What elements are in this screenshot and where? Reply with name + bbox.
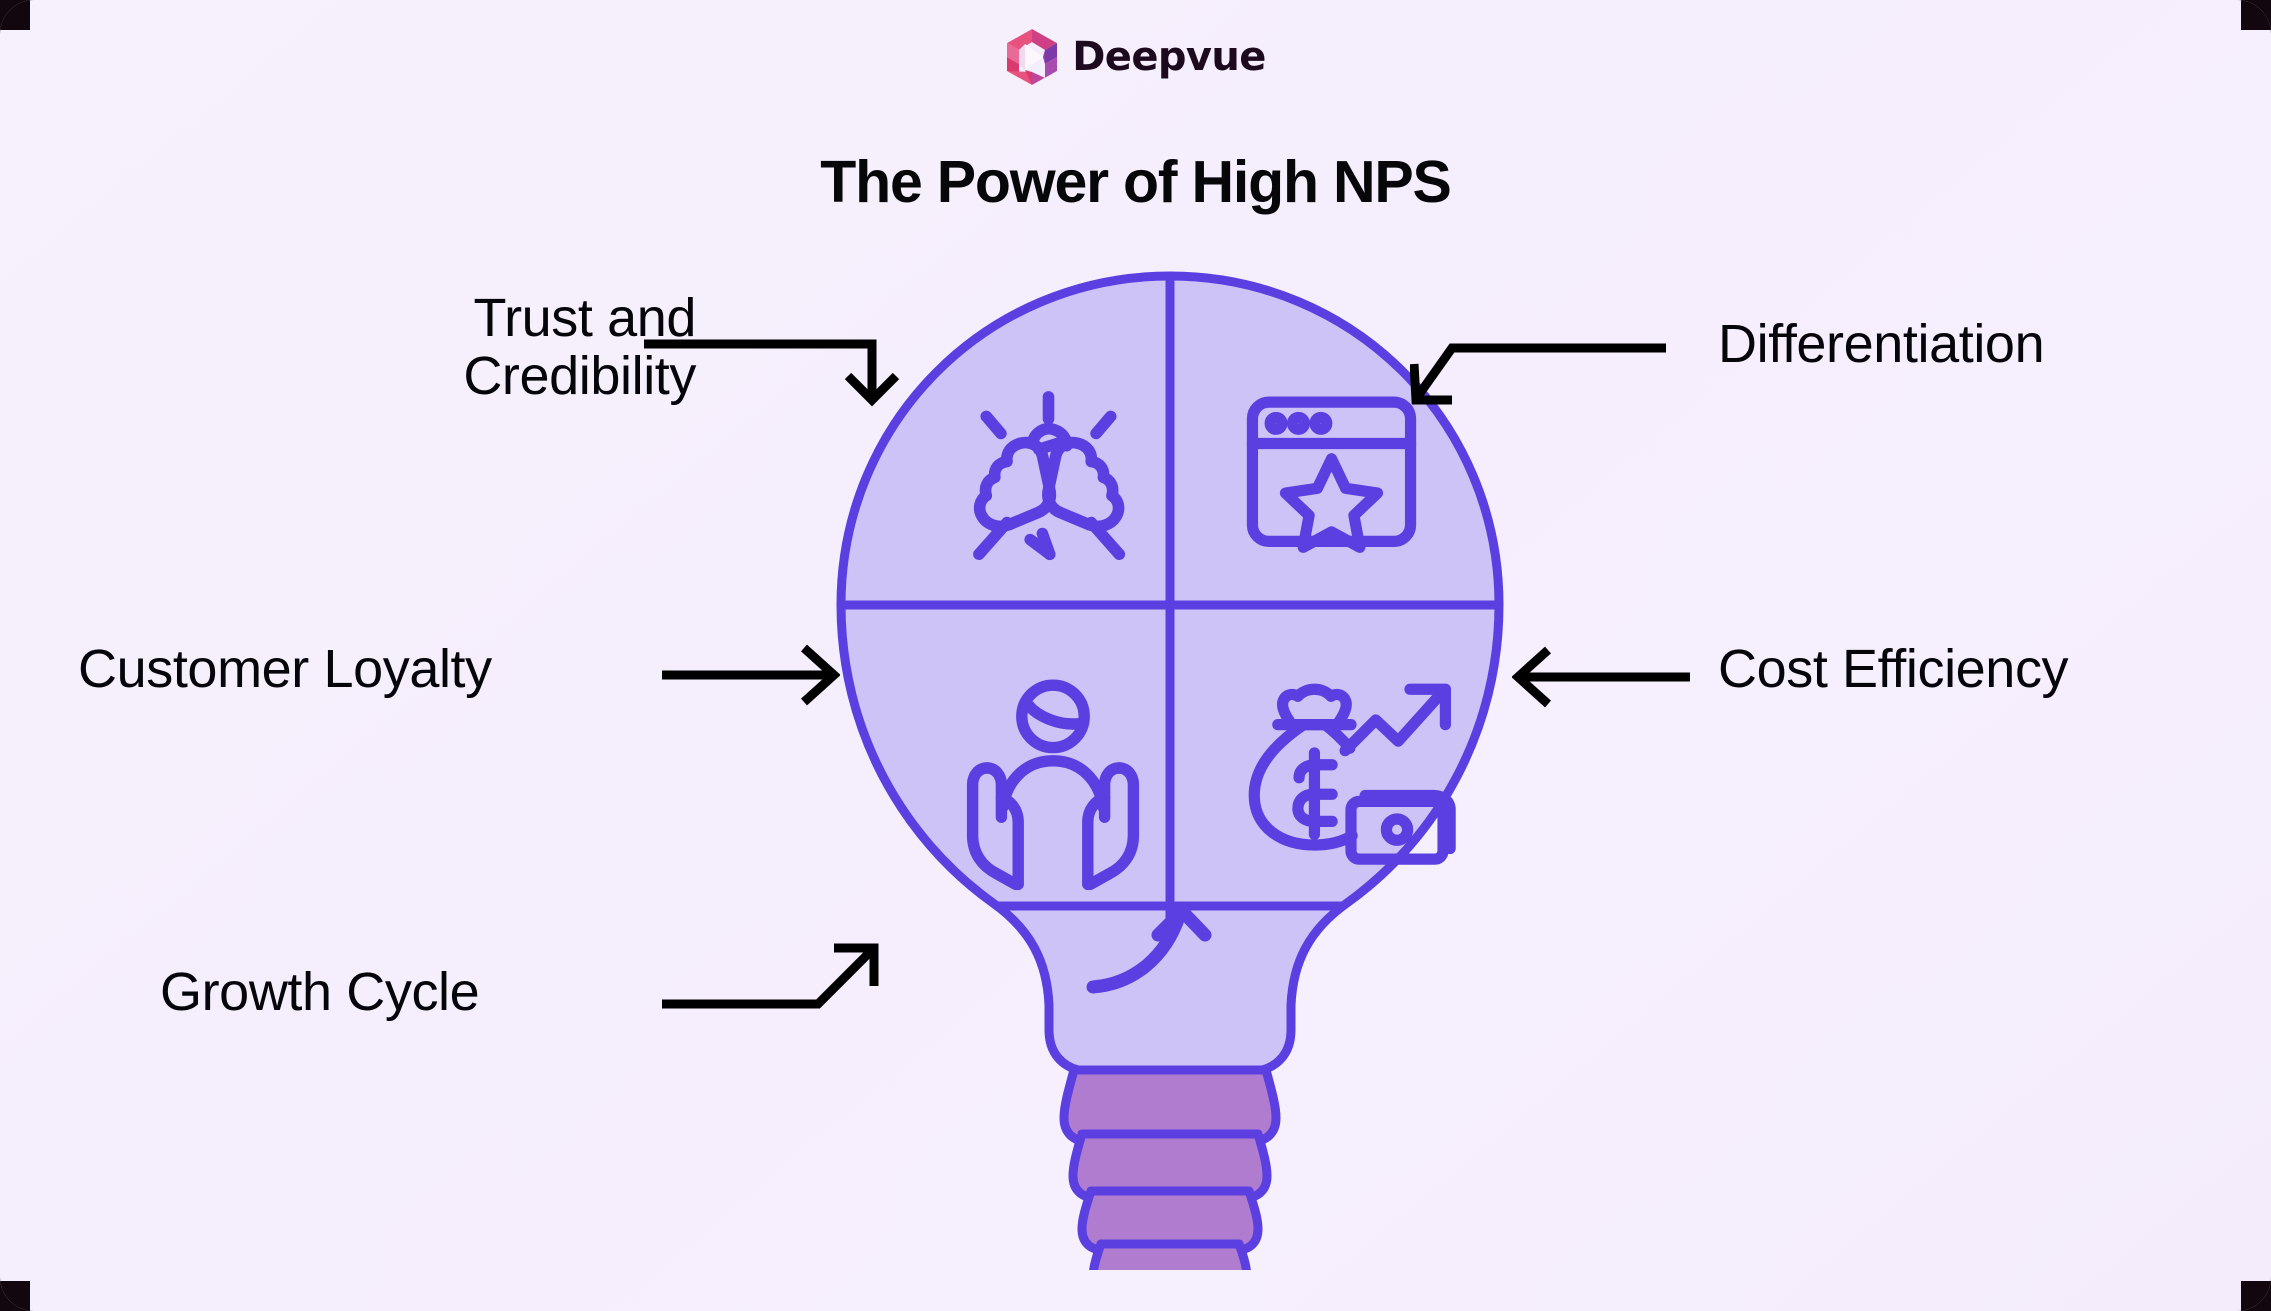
label-cost-efficiency: Cost Efficiency <box>1718 640 2218 698</box>
elbow-arrow-up-right-icon <box>660 940 880 1040</box>
page-title: The Power of High NPS <box>0 153 2271 212</box>
label-growth-cycle: Growth Cycle <box>160 963 660 1021</box>
brand-lockup: Deepvue <box>0 26 2271 88</box>
straight-arrow-right-icon <box>660 640 840 710</box>
elbow-arrow-down-left-icon <box>1410 326 1670 436</box>
corner-notch-bottom-left <box>0 1281 30 1311</box>
label-customer-loyalty: Customer Loyalty <box>78 640 698 698</box>
straight-arrow-left-icon <box>1512 642 1692 712</box>
corner-notch-bottom-right <box>2241 1281 2271 1311</box>
bulb-screw-base <box>1064 1070 1276 1270</box>
light-bulb-svg <box>835 270 1505 1270</box>
brand-name: Deepvue <box>1072 37 1266 77</box>
elbow-arrow-down-right-icon <box>640 320 900 430</box>
label-trust-and-credibility: Trust and Credibility <box>246 289 696 406</box>
infographic-canvas: Deepvue The Power of High NPS <box>0 0 2271 1311</box>
light-bulb-diagram <box>835 270 1505 1270</box>
deepvue-hexagon-logo-icon <box>1005 28 1059 86</box>
label-differentiation: Differentiation <box>1718 315 2188 373</box>
